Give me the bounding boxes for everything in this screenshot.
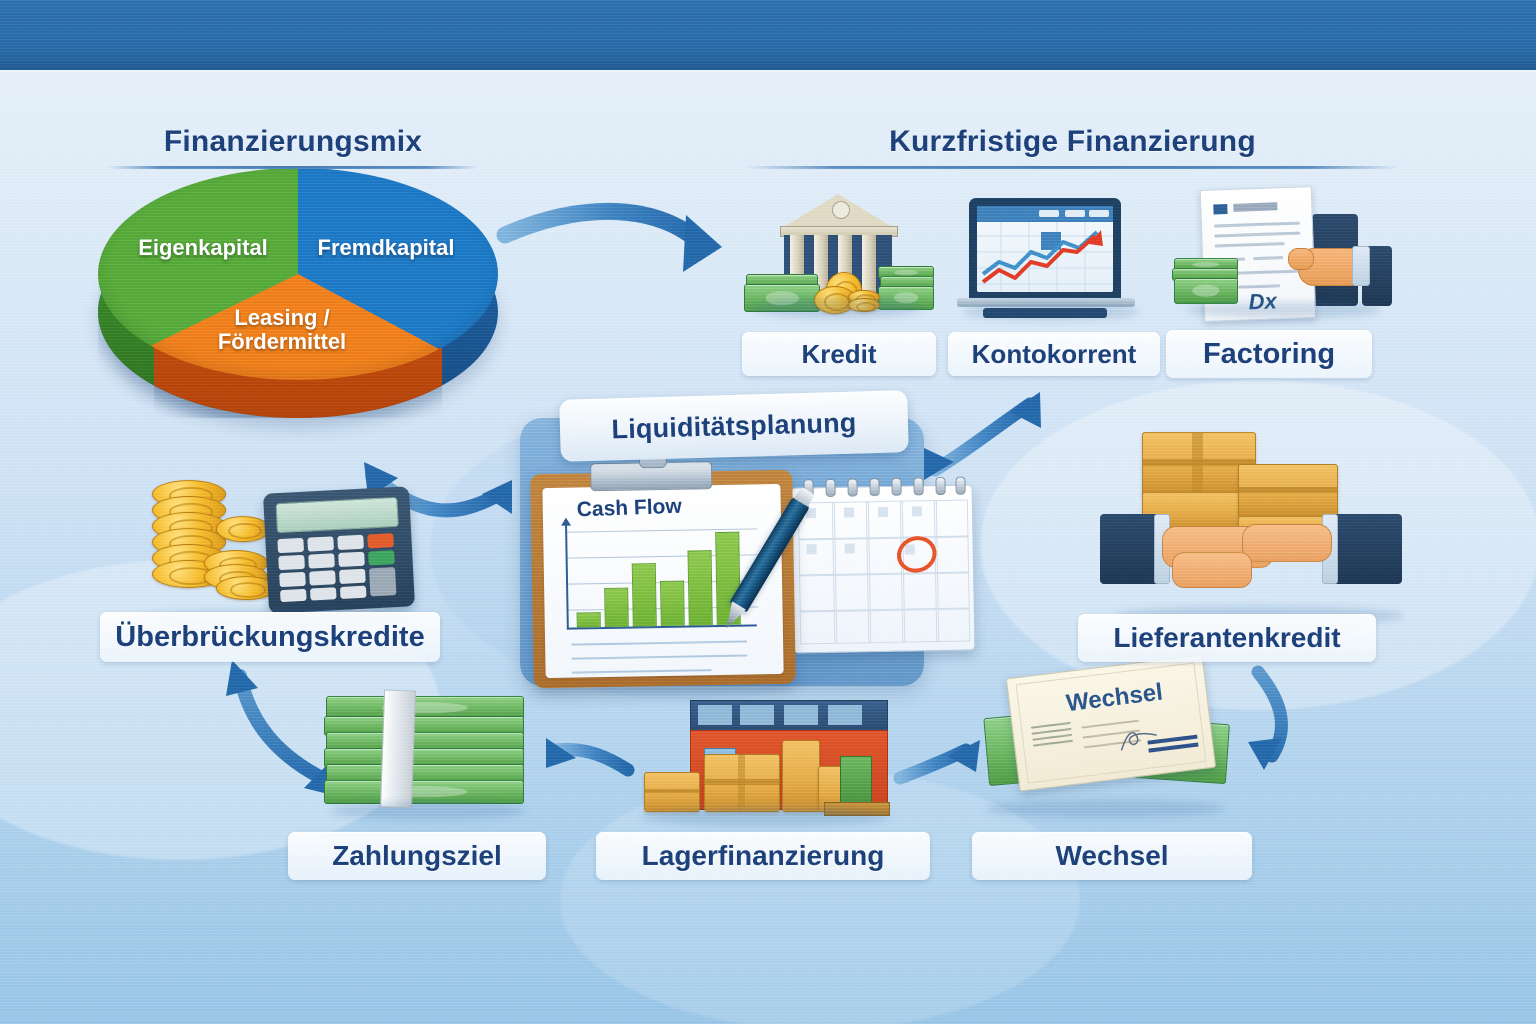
top-banner-bar (0, 0, 1536, 70)
node-label-wechsel[interactable]: Wechsel (972, 832, 1252, 880)
arrow-lager-to-zahlungsziel (546, 738, 628, 770)
section-title-text: Finanzierungsmix (108, 126, 478, 158)
laptop-chart-icon (955, 196, 1145, 320)
pie-slice-label-leasing: Leasing / Fördermittel (182, 306, 382, 354)
cashflow-chart-title: Cash Flow (576, 495, 682, 523)
title-underline (108, 166, 478, 169)
arrow-pie-to-kurzfristige (505, 211, 722, 272)
node-label-text: Wechsel (1055, 840, 1168, 872)
section-title-text: Kurzfristige Finanzierung (745, 126, 1400, 158)
card-label-kredit[interactable]: Kredit (742, 332, 936, 376)
warehouse-boxes-icon (628, 696, 908, 826)
node-label-text: Zahlungsziel (332, 840, 502, 872)
calculator-icon (120, 470, 440, 630)
wechsel-note: Wechsel (1006, 654, 1216, 791)
cashflow-y-axis (565, 524, 569, 630)
calendar-icon (791, 484, 976, 653)
invoice-hand-icon: Dx (1172, 188, 1398, 320)
node-label-zahlungsziel[interactable]: Zahlungsziel (288, 832, 546, 880)
node-label-text: Liquiditätsplanung (611, 407, 857, 445)
clipboard-clamp (590, 461, 712, 491)
node-label-ueberbrueckungskredite[interactable]: Überbrückungskredite (100, 612, 440, 662)
money-bundle-icon (318, 690, 538, 820)
title-underline (745, 166, 1400, 169)
card-label-text: Factoring (1203, 338, 1335, 371)
node-label-lieferantenkredit[interactable]: Lieferantenkredit (1078, 614, 1376, 662)
pie-chart-3d-icon (98, 168, 498, 418)
handshake-boxes-icon (1096, 430, 1426, 630)
infographic-canvas: Finanzierungsmix Kurzfristige Finanzieru… (0, 0, 1536, 1024)
node-label-lagerfinanzierung[interactable]: Lagerfinanzierung (596, 832, 930, 880)
money-band (380, 689, 416, 808)
node-label-text: Lieferantenkredit (1113, 622, 1340, 654)
bill-of-exchange-icon: Wechsel (966, 660, 1256, 820)
pie-slice-label-eigenkapital: Eigenkapital (118, 236, 288, 260)
node-label-text: Überbrückungskredite (115, 621, 424, 654)
card-label-kontokorrent[interactable]: Kontokorrent (948, 332, 1160, 376)
bank-money-icon (742, 190, 932, 320)
card-label-text: Kredit (801, 339, 876, 370)
node-label-liquiditaetsplanung[interactable]: Liquiditätsplanung (559, 390, 909, 462)
card-label-factoring[interactable]: Factoring (1166, 330, 1372, 378)
section-title-kurzfristige-finanzierung: Kurzfristige Finanzierung (745, 126, 1400, 169)
section-title-finanzierungsmix: Finanzierungsmix (108, 126, 478, 169)
cashflow-bars (575, 524, 757, 627)
card-label-text: Kontokorrent (972, 339, 1137, 370)
pie-slice-label-fremdkapital: Fremdkapital (296, 236, 476, 260)
node-label-text: Lagerfinanzierung (642, 840, 885, 872)
